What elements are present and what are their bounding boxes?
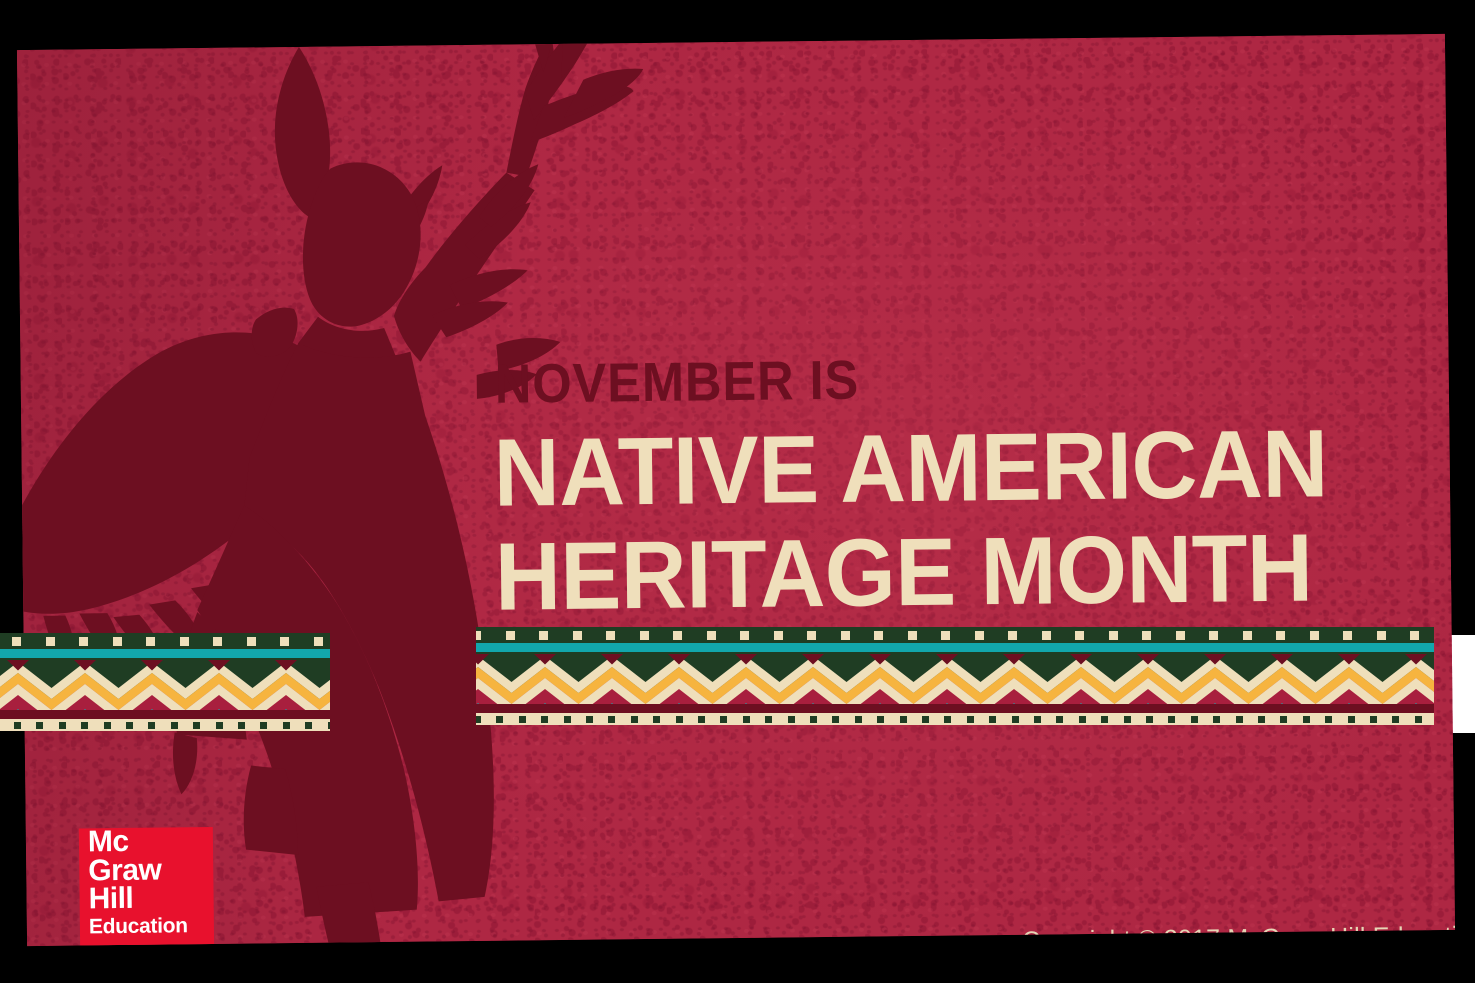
band-square: [146, 637, 155, 646]
band-square: [975, 631, 984, 640]
band-square: [283, 722, 290, 729]
band-square-row-bottom: [0, 719, 330, 731]
band-square: [832, 716, 839, 723]
poster-artboard: NOVEMBER IS NATIVE AMERICAN HERITAGE MON…: [17, 34, 1455, 946]
band-square: [1008, 631, 1017, 640]
mcgraw-hill-education-logo: Mc Graw Hill Education: [79, 827, 214, 946]
band-square: [740, 631, 749, 640]
band-square: [305, 722, 312, 729]
logo-line-4: Education: [80, 912, 214, 936]
band-square: [941, 631, 950, 640]
band-zigzag-field: [0, 658, 330, 710]
band-square: [1176, 631, 1185, 640]
band-square: [1343, 631, 1352, 640]
band-square: [238, 722, 245, 729]
band-square: [539, 631, 548, 640]
band-square: [922, 716, 929, 723]
band-square: [1191, 716, 1198, 723]
band-square: [59, 722, 66, 729]
band-square: [1012, 716, 1019, 723]
band-square: [1056, 716, 1063, 723]
band-square: [314, 637, 323, 646]
band-square: [36, 722, 43, 729]
band-square-row-top: [0, 633, 330, 649]
band-square: [1303, 716, 1310, 723]
headline-line-2: HERITAGE MONTH: [494, 522, 1350, 624]
band-square: [1392, 716, 1399, 723]
band-square-row-bottom: [476, 713, 1434, 725]
band-zigzag-svg: [476, 652, 1434, 704]
band-square: [874, 631, 883, 640]
band-square: [1410, 631, 1419, 640]
band-square: [1034, 716, 1041, 723]
band-zigzag-field: [476, 652, 1434, 704]
band-maroon-stripe: [476, 704, 1434, 713]
band-square: [608, 716, 615, 723]
band-square: [944, 716, 951, 723]
band-square: [1243, 631, 1252, 640]
band-square: [1209, 631, 1218, 640]
band-square: [606, 631, 615, 640]
band-square: [1276, 631, 1285, 640]
band-square: [1168, 716, 1175, 723]
logo-line-3: Hill: [79, 884, 213, 914]
band-square: [280, 637, 289, 646]
headline-text: NATIVE AMERICAN HERITAGE MONTH: [493, 418, 1350, 624]
band-square: [653, 716, 660, 723]
band-square: [807, 631, 816, 640]
band-square: [496, 716, 503, 723]
band-teal-stripe: [0, 649, 330, 658]
headline-line-1: NATIVE AMERICAN: [493, 410, 1328, 526]
band-square: [810, 716, 817, 723]
zigzag-border-right: [476, 627, 1434, 725]
band-square: [180, 637, 189, 646]
band-square: [1236, 716, 1243, 723]
band-square: [216, 722, 223, 729]
band-square: [908, 631, 917, 640]
band-square: [1310, 631, 1319, 640]
band-square: [1079, 716, 1086, 723]
band-square: [328, 722, 330, 729]
band-square: [260, 722, 267, 729]
band-square: [673, 631, 682, 640]
band-square: [1075, 631, 1084, 640]
band-square: [126, 722, 133, 729]
copyright-notice: Copyright © 2017 McGraw-Hill Education: [1022, 922, 1455, 947]
band-square: [1124, 716, 1131, 723]
band-square: [1377, 631, 1386, 640]
logo-line-1: Mc: [79, 827, 213, 857]
band-square: [877, 716, 884, 723]
band-square: [720, 716, 727, 723]
band-square: [113, 637, 122, 646]
band-square: [541, 716, 548, 723]
band-square: [213, 637, 222, 646]
band-square: [1213, 716, 1220, 723]
band-square: [14, 722, 21, 729]
band-square: [476, 716, 481, 723]
band-square: [506, 631, 515, 640]
band-square: [1101, 716, 1108, 723]
band-square: [46, 637, 55, 646]
headline-block: NOVEMBER IS NATIVE AMERICAN HERITAGE MON…: [492, 347, 1395, 625]
band-maroon-stripe: [0, 710, 330, 719]
logo-line-2: Graw: [79, 855, 213, 885]
band-square: [573, 631, 582, 640]
band-square: [1142, 631, 1151, 640]
zigzag-border-left: [0, 633, 330, 731]
band-square: [1258, 716, 1265, 723]
band-square: [247, 637, 256, 646]
band-square: [1325, 716, 1332, 723]
band-square: [81, 722, 88, 729]
band-square: [193, 722, 200, 729]
kicker-text: NOVEMBER IS: [494, 347, 1321, 411]
band-teal-stripe: [476, 643, 1434, 652]
band-square: [564, 716, 571, 723]
band-square: [1042, 631, 1051, 640]
band-square: [79, 637, 88, 646]
band-square: [586, 716, 593, 723]
band-square: [841, 631, 850, 640]
screenshot-canvas: NOVEMBER IS NATIVE AMERICAN HERITAGE MON…: [0, 0, 1475, 983]
band-square: [765, 716, 772, 723]
band-square: [707, 631, 716, 640]
band-square: [698, 716, 705, 723]
band-square: [171, 722, 178, 729]
band-square: [900, 716, 907, 723]
band-square: [1109, 631, 1118, 640]
band-square: [855, 716, 862, 723]
band-inner-right: [476, 627, 1434, 725]
band-square: [476, 631, 481, 640]
band-square: [519, 716, 526, 723]
band-inner-left: [0, 633, 330, 731]
band-square: [989, 716, 996, 723]
band-square: [676, 716, 683, 723]
band-square: [967, 716, 974, 723]
band-zigzag-svg: [0, 658, 330, 710]
band-square: [12, 637, 21, 646]
band-square: [1415, 716, 1422, 723]
band-square: [788, 716, 795, 723]
band-square: [1280, 716, 1287, 723]
band-square: [1370, 716, 1377, 723]
band-square: [1348, 716, 1355, 723]
band-square: [640, 631, 649, 640]
band-square: [774, 631, 783, 640]
band-square: [148, 722, 155, 729]
band-square: [631, 716, 638, 723]
band-square-row-top: [476, 627, 1434, 643]
band-square: [743, 716, 750, 723]
band-square: [1146, 716, 1153, 723]
band-square: [104, 722, 111, 729]
